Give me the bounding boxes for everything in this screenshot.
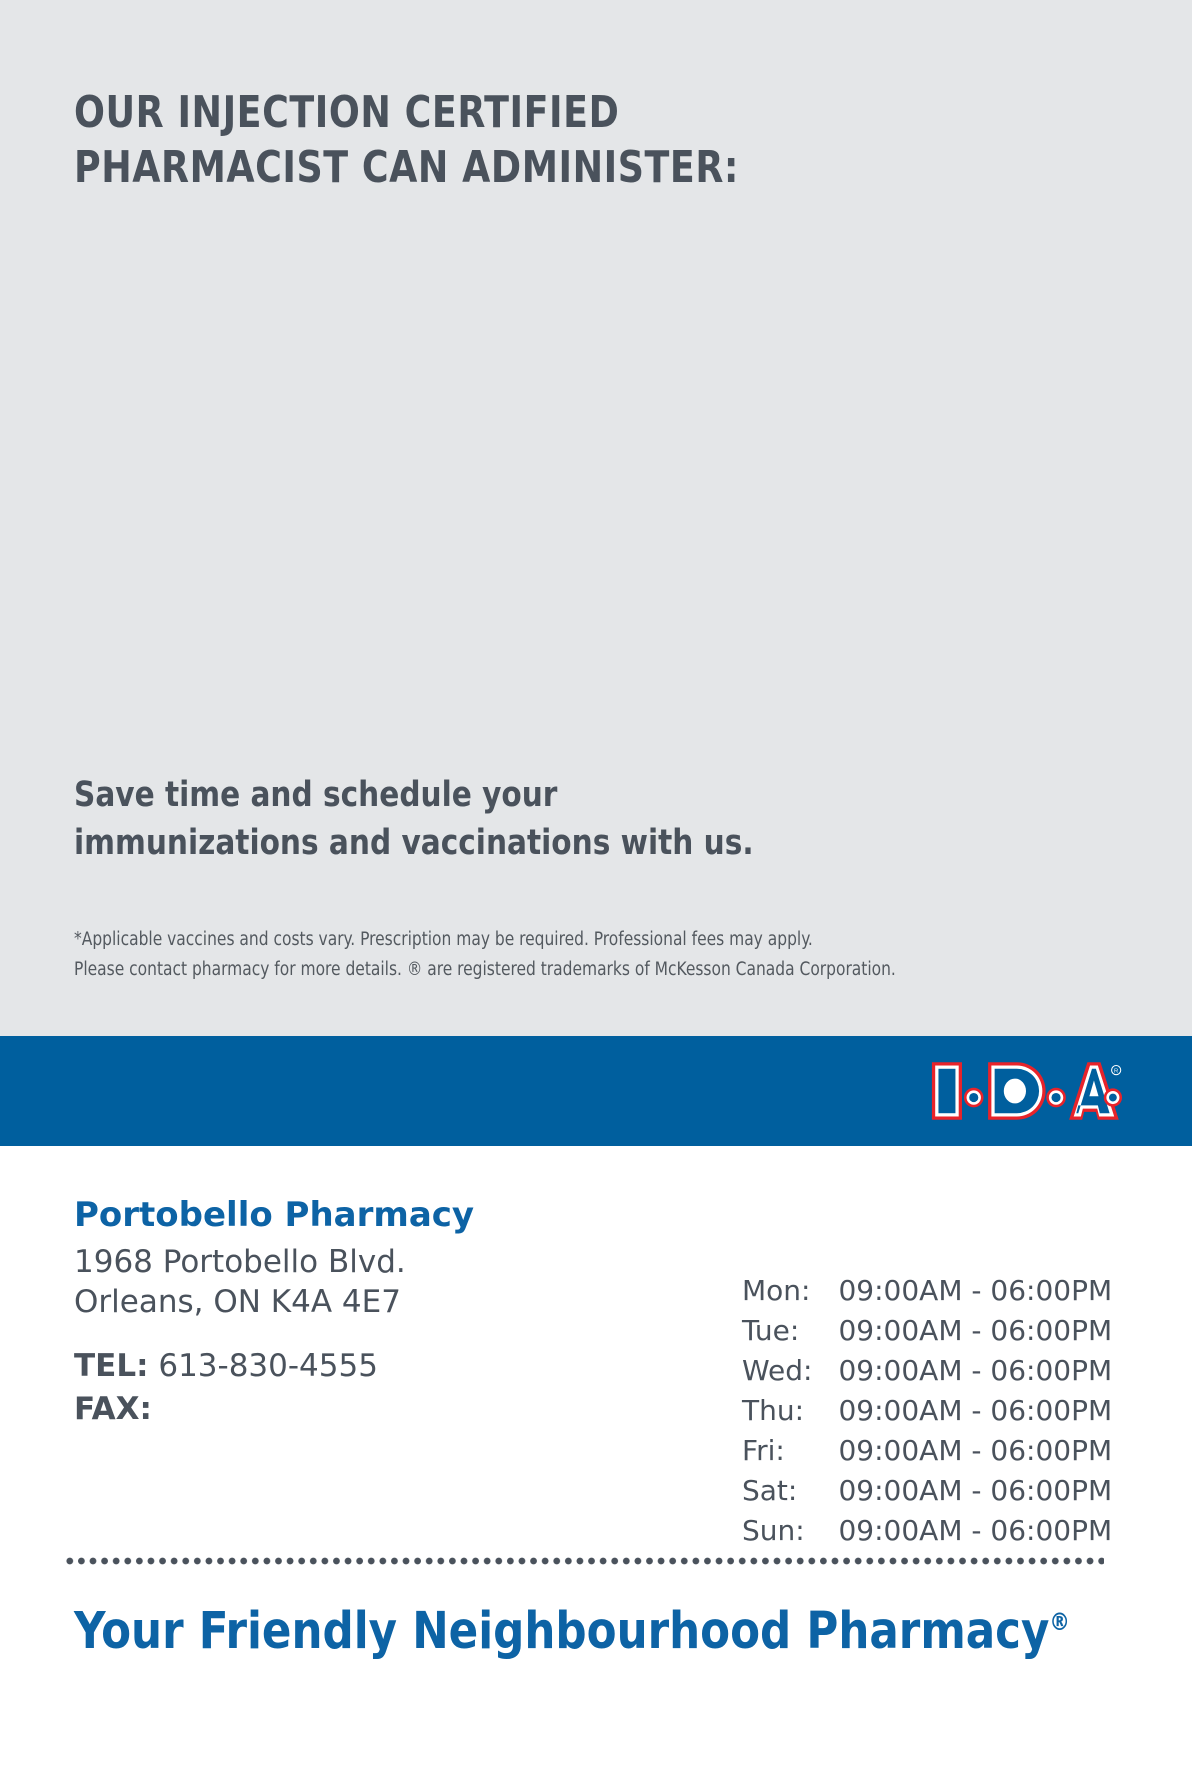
top-panel: OUR INJECTION CERTIFIED PHARMACIST CAN A… (0, 0, 1192, 1036)
hours-range: 09:00AM - 06:00PM (838, 1351, 1112, 1391)
dotted-divider (64, 1557, 1104, 1565)
hours-row: Thu:09:00AM - 06:00PM (742, 1391, 1112, 1431)
disclaimer-line-1: *Applicable vaccines and costs vary. Pre… (74, 925, 1060, 955)
hours-day: Sat: (742, 1471, 838, 1511)
hours-range: 09:00AM - 06:00PM (838, 1511, 1112, 1551)
subheadline-line-1: Save time and schedule your (74, 772, 882, 820)
hours-day: Wed: (742, 1351, 838, 1391)
fax-label: FAX: (74, 1391, 152, 1427)
address-line-2: Orleans, ON K4A 4E7 (74, 1283, 674, 1323)
disclaimer-line-2: Please contact pharmacy for more details… (74, 955, 1060, 985)
hours-range: 09:00AM - 06:00PM (838, 1391, 1112, 1431)
hours-row: Wed:09:00AM - 06:00PM (742, 1351, 1112, 1391)
hours-day: Thu: (742, 1391, 838, 1431)
hours-range: 09:00AM - 06:00PM (838, 1271, 1112, 1311)
hours-row: Mon:09:00AM - 06:00PM (742, 1271, 1112, 1311)
hours-row: Tue:09:00AM - 06:00PM (742, 1311, 1112, 1351)
store-details: Portobello Pharmacy 1968 Portobello Blvd… (74, 1195, 674, 1430)
hours-range: 09:00AM - 06:00PM (838, 1431, 1112, 1471)
hours-day: Tue: (742, 1311, 838, 1351)
fax-row: FAX: (74, 1388, 674, 1430)
hours-row: Sun:09:00AM - 06:00PM (742, 1511, 1112, 1551)
address-line-1: 1968 Portobello Blvd. (74, 1243, 674, 1283)
telephone-label: TEL: (74, 1348, 148, 1384)
disclaimer-text: *Applicable vaccines and costs vary. Pre… (74, 925, 1060, 985)
svg-text:R: R (1114, 1069, 1118, 1075)
tagline-text: Your Friendly Neighbourhood Pharmacy (74, 1602, 1049, 1661)
subheadline: Save time and schedule your immunization… (74, 772, 882, 867)
ida-logo-icon: R (928, 1058, 1124, 1124)
store-address: 1968 Portobello Blvd. Orleans, ON K4A 4E… (74, 1243, 674, 1323)
store-info-area: Portobello Pharmacy 1968 Portobello Blvd… (0, 1146, 1192, 1785)
contact-details: TEL: 613-830-4555 FAX: (74, 1345, 674, 1430)
brand-band: R (0, 1036, 1192, 1146)
store-name: Portobello Pharmacy (74, 1195, 674, 1235)
pharmacy-flyer: OUR INJECTION CERTIFIED PHARMACIST CAN A… (0, 0, 1192, 1785)
headline-line-2: PHARMACIST CAN ADMINISTER: (74, 140, 865, 195)
subheadline-line-2: immunizations and vaccinations with us. (74, 820, 882, 868)
store-hours-body: Mon:09:00AM - 06:00PMTue:09:00AM - 06:00… (742, 1271, 1112, 1551)
hours-range: 09:00AM - 06:00PM (838, 1471, 1112, 1511)
telephone-row: TEL: 613-830-4555 (74, 1345, 674, 1387)
tagline-registered-mark: ® (1049, 1608, 1070, 1636)
store-hours-table: Mon:09:00AM - 06:00PMTue:09:00AM - 06:00… (742, 1271, 1112, 1551)
telephone-value[interactable]: 613-830-4555 (158, 1348, 378, 1384)
hours-row: Fri:09:00AM - 06:00PM (742, 1431, 1112, 1471)
headline-line-1: OUR INJECTION CERTIFIED (74, 85, 865, 140)
hours-day: Fri: (742, 1431, 838, 1471)
hours-row: Sat:09:00AM - 06:00PM (742, 1471, 1112, 1511)
page-title: OUR INJECTION CERTIFIED PHARMACIST CAN A… (74, 85, 865, 196)
hours-day: Mon: (742, 1271, 838, 1311)
tagline: Your Friendly Neighbourhood Pharmacy® (74, 1604, 1070, 1660)
hours-range: 09:00AM - 06:00PM (838, 1311, 1112, 1351)
hours-day: Sun: (742, 1511, 838, 1551)
